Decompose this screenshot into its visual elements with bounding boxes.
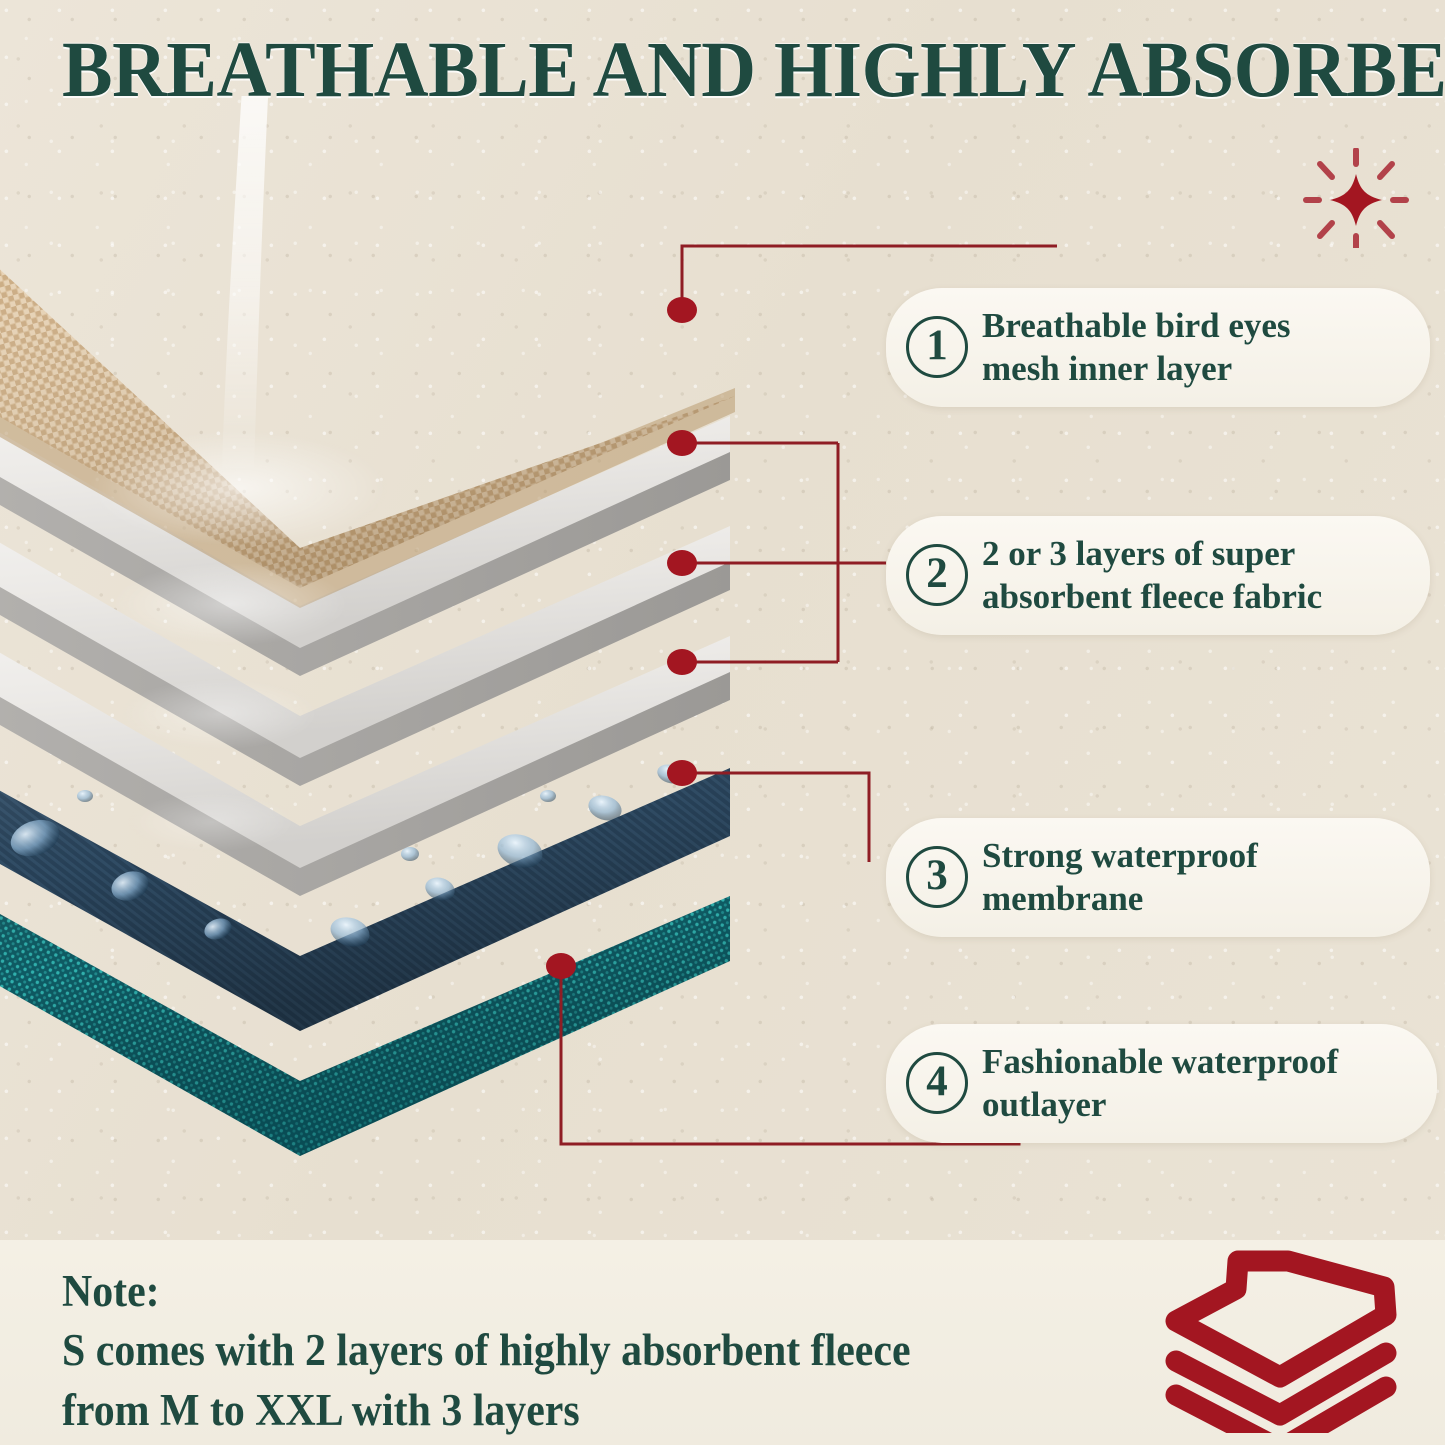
callout-number-3: 3 [906,846,968,908]
callout-text-4: Fashionable waterproof outlayer [982,1040,1338,1127]
callout-number-1: 1 [906,316,968,378]
sparkle-icon [1300,148,1412,248]
callout-1[interactable]: 1 Breathable bird eyes mesh inner layer [886,288,1430,407]
callout-3[interactable]: 3 Strong waterproof membrane [886,818,1430,937]
callout-number-4: 4 [906,1052,968,1114]
note-text: Note: S comes with 2 layers of highly ab… [62,1262,1029,1440]
note-panel: Note: S comes with 2 layers of highly ab… [0,1240,1445,1445]
infographic-canvas: BREATHABLE AND HIGHLY ABSORBENT [0,0,1445,1445]
callout-text-3: Strong waterproof membrane [982,834,1258,921]
layers-stack-icon [1158,1243,1408,1433]
fabric-layer-stack-illustration [0,96,790,1176]
callout-2[interactable]: 2 2 or 3 layers of super absorbent fleec… [886,516,1430,635]
callout-number-2: 2 [906,544,968,606]
callout-4[interactable]: 4 Fashionable waterproof outlayer [886,1024,1437,1143]
callout-text-1: Breathable bird eyes mesh inner layer [982,304,1291,391]
callout-text-2: 2 or 3 layers of super absorbent fleece … [982,532,1322,619]
